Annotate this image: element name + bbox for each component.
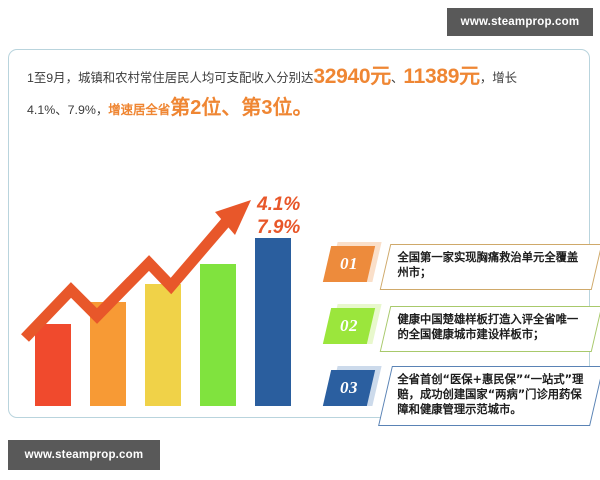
highlight-badge-3: 03 xyxy=(327,366,383,408)
chart-bar xyxy=(255,238,291,406)
value-separator: 、 xyxy=(391,71,403,85)
headline-suffix: ，增长 xyxy=(480,71,517,85)
badge-number-3: 03 xyxy=(340,378,358,398)
highlight-textbox-2: 健康中国楚雄样板打造入评全省唯一的全国健康城市建设样板市； xyxy=(380,306,600,352)
rank-urban: 第2位 xyxy=(170,97,221,119)
rank-rural: 第3位 xyxy=(241,97,292,119)
highlight-row-1[interactable]: 01 全国第一家实现胸痛救治单元全覆盖州市； xyxy=(327,242,599,294)
badge-main-3: 03 xyxy=(323,370,375,406)
value-rural-income: 11389元 xyxy=(403,65,479,88)
headline: 1至9月，城镇和农村常住居民人均可支配收入分别达32940元、11389元，增长… xyxy=(27,62,575,125)
watermark-top-text: www.steamprop.com xyxy=(461,16,580,28)
rank-prefix: 增速居全省 xyxy=(108,103,170,117)
chart-annotations: 4.1% 7.9% xyxy=(256,194,300,238)
highlight-row-3[interactable]: 03 全省首创“医保+惠民保”“一站式”理赔，成功创建国家“两病”门诊用药保障和… xyxy=(327,366,599,430)
badge-number-2: 02 xyxy=(340,316,358,336)
watermark-top: www.steamprop.com xyxy=(447,8,593,36)
bar-chart: 4.1% 7.9% 1月3月5月7月9月 xyxy=(19,138,324,406)
highlight-badge-1: 01 xyxy=(327,242,383,284)
headline-line-1: 1至9月，城镇和农村常住居民人均可支配收入分别达32940元、11389元，增长 xyxy=(27,62,575,93)
chart-svg: 4.1% 7.9% 1月3月5月7月9月 xyxy=(19,138,324,406)
highlight-text-1: 全国第一家实现胸痛救治单元全覆盖州市； xyxy=(386,245,596,285)
rank-separator: 、 xyxy=(221,97,241,119)
highlight-textbox-3: 全省首创“医保+惠民保”“一站式”理赔，成功创建国家“两病”门诊用药保障和健康管… xyxy=(378,366,600,426)
value-urban-income: 32940元 xyxy=(313,65,391,88)
watermark-bottom: www.steamprop.com xyxy=(8,440,160,470)
badge-number-1: 01 xyxy=(340,254,358,274)
badge-main-1: 01 xyxy=(323,246,375,282)
headline-prefix: 1至9月，城镇和农村常住居民人均可支配收入分别达 xyxy=(27,71,313,85)
annotation-growth-urban: 4.1% xyxy=(256,194,300,215)
headline-line-2: 4.1%、7.9%，增速居全省第2位、第3位。 xyxy=(27,93,575,125)
highlight-text-2: 健康中国楚雄样板打造入评全省唯一的全国健康城市建设样板市； xyxy=(386,307,596,347)
headline-end: 。 xyxy=(292,97,312,119)
annotation-growth-rural: 7.9% xyxy=(257,217,300,238)
highlight-textbox-1: 全国第一家实现胸痛救治单元全覆盖州市； xyxy=(380,244,600,290)
highlight-text-3: 全省首创“医保+惠民保”“一站式”理赔，成功创建国家“两病”门诊用药保障和健康管… xyxy=(386,367,596,422)
infographic-card: 1至9月，城镇和农村常住居民人均可支配收入分别达32940元、11389元，增长… xyxy=(8,49,590,418)
growth-rates: 4.1%、7.9%， xyxy=(27,103,108,117)
highlight-row-2[interactable]: 02 健康中国楚雄样板打造入评全省唯一的全国健康城市建设样板市； xyxy=(327,304,599,356)
chart-bar xyxy=(145,284,181,406)
badge-main-2: 02 xyxy=(323,308,375,344)
chart-bar xyxy=(35,324,71,406)
watermark-bottom-text: www.steamprop.com xyxy=(25,449,144,461)
highlight-badge-2: 02 xyxy=(327,304,383,346)
chart-bars xyxy=(35,238,291,406)
chart-bar xyxy=(200,264,236,406)
